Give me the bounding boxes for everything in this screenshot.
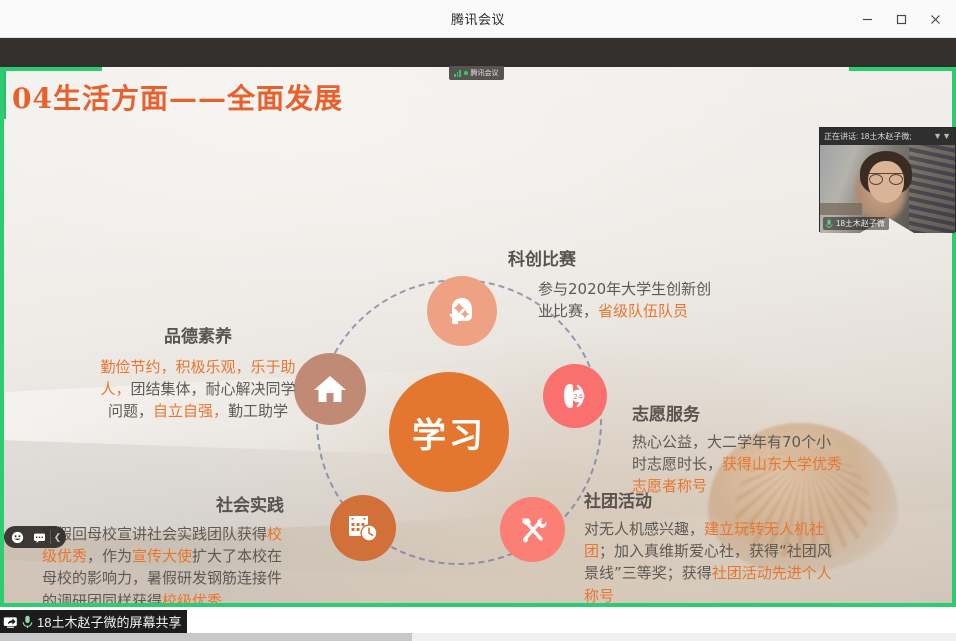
chevron-left-icon[interactable]: ❮	[51, 526, 64, 548]
highlighted-text: 宣传大使	[132, 547, 192, 565]
share-border	[0, 67, 4, 607]
center-node-label: 学习	[412, 408, 486, 457]
highlighted-text: 省级队伍队员	[598, 302, 688, 320]
share-border	[0, 603, 956, 607]
background-furniture	[909, 145, 955, 233]
close-icon[interactable]	[918, 4, 952, 34]
microphone-icon	[22, 615, 33, 629]
share-border	[0, 67, 102, 71]
chevron-collapse-icon[interactable]: ▼▼	[933, 132, 951, 141]
screen-share-icon	[3, 615, 18, 629]
section-practice: 社会实践 寒假回母校宣讲社会实践团队获得校级优秀，作为宣传大使扩大了本校在母校的…	[42, 491, 292, 607]
background-desk	[820, 203, 862, 215]
node-volunteer: 24	[543, 364, 607, 428]
mini-pill-label: 腾讯会议	[471, 68, 499, 78]
meeting-window: 腾讯会议 腾讯会议 04生活方面——全面发展	[0, 0, 956, 641]
section-club: 社团活动 对无人机感兴趣，建立玩转无人机社团；加入真维斯爱心社，获得“社团风景线…	[584, 487, 834, 607]
screen-share-status-bar: 18土木赵子微的屏幕共享	[0, 610, 187, 633]
slide-title: 04生活方面——全面发展	[12, 77, 343, 117]
share-border	[849, 67, 956, 71]
video-panel-header: 正在讲话: 18土木赵子微; ▼▼	[820, 128, 955, 145]
minimize-icon[interactable]	[850, 4, 884, 34]
body-text: 寒假回母校宣讲社会实践团队获得	[42, 525, 267, 543]
meeting-top-strip	[0, 38, 956, 67]
mini-meeting-pill[interactable]: 腾讯会议	[449, 66, 504, 80]
body-text: 对无人机感兴趣，	[584, 520, 704, 538]
phone-24-icon: 24	[559, 380, 591, 412]
share-status-text: 18土木赵子微的屏幕共享	[37, 612, 181, 631]
highlighted-text: 勤俭节约，积极乐观，	[100, 358, 250, 376]
node-morality	[294, 353, 366, 425]
status-dot-icon	[464, 71, 468, 75]
speaker-video-panel[interactable]: 正在讲话: 18土木赵子微; ▼▼ 18土木赵子微	[819, 127, 956, 232]
participant-name: 18土木赵子微	[836, 218, 885, 229]
shared-screen-content: 04生活方面——全面发展 学习	[0, 67, 956, 607]
section-heading: 志愿服务	[632, 400, 844, 425]
section-body: 勤俭节约，积极乐观，乐于助人，团结集体，耐心解决同学问题，自立自强，勤工助学	[98, 356, 298, 423]
floating-toolbar[interactable]: ❮	[4, 526, 66, 548]
section-heading: 品德素养	[98, 322, 298, 347]
hammer-wrench-icon	[516, 513, 550, 547]
home-icon	[312, 372, 348, 406]
section-body: 寒假回母校宣讲社会实践团队获得校级优秀，作为宣传大使扩大了本校在母校的影响力，暑…	[42, 523, 292, 607]
emoji-icon[interactable]	[6, 526, 28, 548]
window-titlebar: 腾讯会议	[0, 0, 956, 38]
speaking-label: 正在讲话: 18土木赵子微;	[824, 131, 912, 142]
window-title: 腾讯会议	[451, 9, 505, 28]
chat-icon[interactable]	[28, 526, 50, 548]
svg-text:24: 24	[573, 392, 583, 401]
section-body: 对无人机感兴趣，建立玩转无人机社团；加入真维斯爱心社，获得“社团风景线”三等奖；…	[584, 518, 834, 607]
center-node-study: 学习	[389, 372, 509, 492]
node-innovation	[427, 276, 497, 346]
highlighted-text: 自立自强，	[153, 402, 228, 420]
section-volunteer: 志愿服务 热心公益，大二学年有70个小时志愿时长，获得山东大学优秀志愿者称号	[632, 400, 844, 498]
section-morality: 品德素养 勤俭节约，积极乐观，乐于助人，团结集体，耐心解决同学问题，自立自强，勤…	[98, 322, 298, 423]
participant-name-badge: 18土木赵子微	[823, 217, 889, 230]
section-heading: 科创比赛	[508, 245, 708, 270]
section-body: 参与2020年大学生创新创业比赛，省级队伍队员	[538, 278, 718, 322]
section-innovation: 科创比赛 参与2020年大学生创新创业比赛，省级队伍队员	[508, 245, 708, 322]
microphone-icon	[825, 219, 833, 229]
horizontal-scrollbar[interactable]	[0, 633, 956, 641]
signal-icon	[454, 70, 461, 77]
node-club	[500, 497, 565, 562]
calendar-clock-icon	[346, 512, 380, 544]
node-practice	[330, 495, 396, 561]
section-heading: 社会实践	[42, 491, 292, 516]
window-controls	[850, 0, 952, 38]
section-heading: 社团活动	[584, 487, 834, 512]
maximize-icon[interactable]	[884, 4, 918, 34]
head-gears-icon	[445, 294, 479, 328]
video-feed: 18土木赵子微	[820, 145, 955, 233]
person-glasses	[869, 173, 903, 182]
body-text: ，作为	[87, 547, 132, 565]
body-text: 勤工助学	[228, 402, 288, 420]
scrollbar-thumb[interactable]	[0, 633, 412, 641]
